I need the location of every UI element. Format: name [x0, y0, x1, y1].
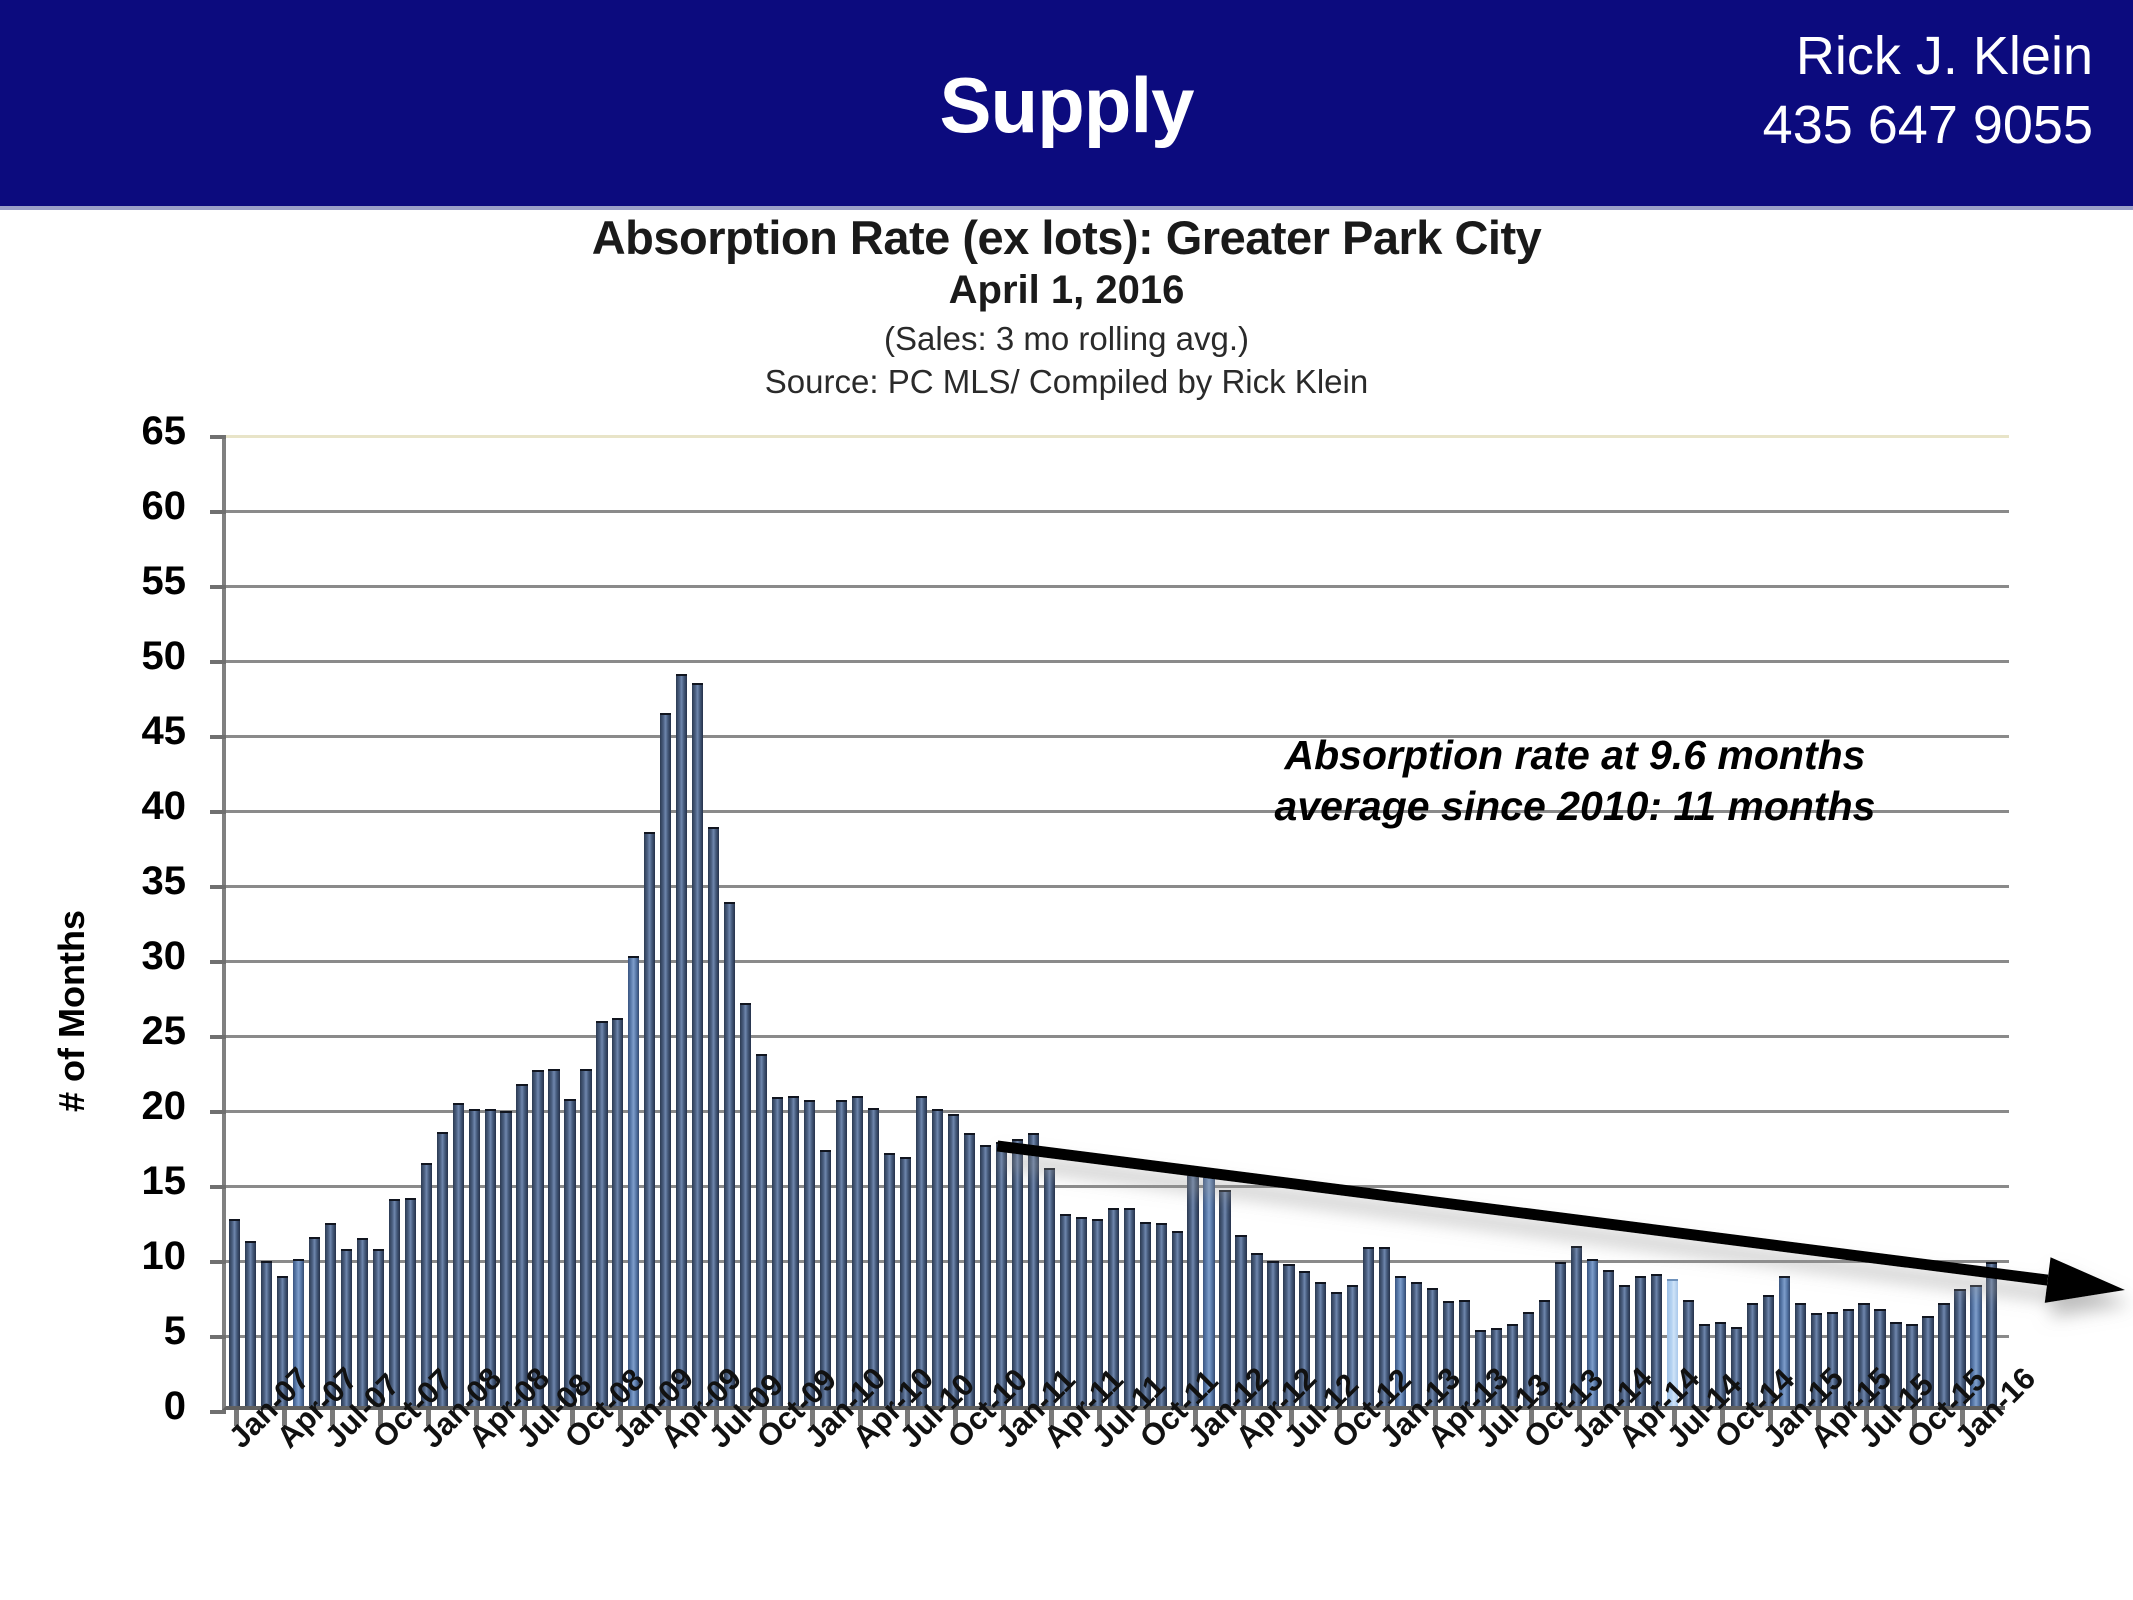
annotation-line-1: Absorption rate at 9.6 months: [1180, 730, 1970, 781]
bar: [245, 1241, 256, 1406]
bar: [516, 1084, 527, 1407]
y-tick-mark: [210, 435, 226, 439]
y-tick-mark: [210, 735, 226, 739]
bar: [564, 1099, 575, 1407]
y-tick-mark: [210, 885, 226, 889]
bar: [532, 1070, 543, 1406]
y-tick-mark: [210, 960, 226, 964]
y-tick-label: 50: [66, 634, 186, 679]
bar: [596, 1021, 607, 1407]
bar: [1219, 1190, 1230, 1406]
contact-block: Rick J. Klein 435 647 9055: [1763, 22, 2093, 160]
annotation-text: Absorption rate at 9.6 months average si…: [1180, 730, 1970, 833]
absorption-rate-chart: Absorption Rate (ex lots): Greater Park …: [0, 210, 2133, 1600]
bar: [756, 1054, 767, 1407]
bar: [453, 1103, 464, 1406]
y-tick-label: 30: [66, 934, 186, 979]
bar: [804, 1100, 815, 1406]
bar: [932, 1109, 943, 1406]
y-tick-label: 20: [66, 1084, 186, 1129]
bar: [948, 1114, 959, 1407]
bar: [772, 1097, 783, 1406]
y-tick-label: 0: [66, 1384, 186, 1429]
y-tick-mark: [210, 585, 226, 589]
bar: [836, 1100, 847, 1406]
y-tick-mark: [210, 1335, 226, 1339]
y-tick-label: 65: [66, 409, 186, 454]
bar: [628, 956, 639, 1406]
y-tick-mark: [210, 1035, 226, 1039]
bar: [1172, 1231, 1183, 1407]
y-tick-label: 5: [66, 1309, 186, 1354]
bar: [229, 1219, 240, 1407]
y-tick-mark: [210, 660, 226, 664]
y-tick-label: 45: [66, 709, 186, 754]
bar: [724, 902, 735, 1406]
y-tick-mark: [210, 1260, 226, 1264]
bar: [852, 1096, 863, 1407]
gridline: [226, 885, 2009, 888]
bar: [1076, 1217, 1087, 1406]
annotation-line-2: average since 2010: 11 months: [1180, 781, 1970, 832]
gridline: [226, 435, 2009, 438]
bar: [612, 1018, 623, 1407]
bar: [868, 1108, 879, 1407]
y-tick-label: 25: [66, 1009, 186, 1054]
bar: [964, 1133, 975, 1406]
bar: [708, 827, 719, 1406]
bar: [788, 1096, 799, 1407]
y-tick-label: 55: [66, 559, 186, 604]
contact-phone: 435 647 9055: [1763, 91, 2093, 160]
gridline: [226, 585, 2009, 588]
y-tick-label: 15: [66, 1159, 186, 1204]
bar: [660, 713, 671, 1406]
plot-area: Jan-07Apr-07Jul-07Oct-07Jan-08Apr-08Jul-…: [222, 435, 2005, 1410]
bar: [740, 1003, 751, 1407]
gridline: [226, 960, 2009, 963]
y-tick-mark: [210, 510, 226, 514]
y-tick-label: 35: [66, 859, 186, 904]
chart-source: Source: PC MLS/ Compiled by Rick Klein: [0, 363, 2133, 401]
bar: [676, 674, 687, 1406]
y-tick-mark: [210, 1110, 226, 1114]
gridline: [226, 660, 2009, 663]
y-tick-mark: [210, 1185, 226, 1189]
y-tick-label: 60: [66, 484, 186, 529]
gridline: [226, 1035, 2009, 1038]
bar: [580, 1069, 591, 1407]
y-tick-mark: [210, 1410, 226, 1414]
bar: [1028, 1133, 1039, 1406]
bar: [980, 1145, 991, 1406]
bar: [548, 1069, 559, 1407]
bar: [500, 1111, 511, 1407]
bar: [916, 1096, 927, 1407]
contact-name: Rick J. Klein: [1763, 22, 2093, 91]
bar: [405, 1198, 416, 1407]
bar: [485, 1109, 496, 1406]
chart-title: Absorption Rate (ex lots): Greater Park …: [0, 210, 2133, 265]
y-tick-label: 10: [66, 1234, 186, 1279]
chart-note: (Sales: 3 mo rolling avg.): [0, 320, 2133, 358]
bar: [1124, 1208, 1135, 1406]
bar: [644, 832, 655, 1407]
bar: [884, 1153, 895, 1407]
y-tick-label: 40: [66, 784, 186, 829]
y-tick-mark: [210, 810, 226, 814]
bar: [469, 1109, 480, 1406]
bar: [692, 683, 703, 1406]
chart-subtitle: April 1, 2016: [0, 268, 2133, 313]
gridline: [226, 510, 2009, 513]
slide-header: Supply Rick J. Klein 435 647 9055: [0, 0, 2133, 210]
